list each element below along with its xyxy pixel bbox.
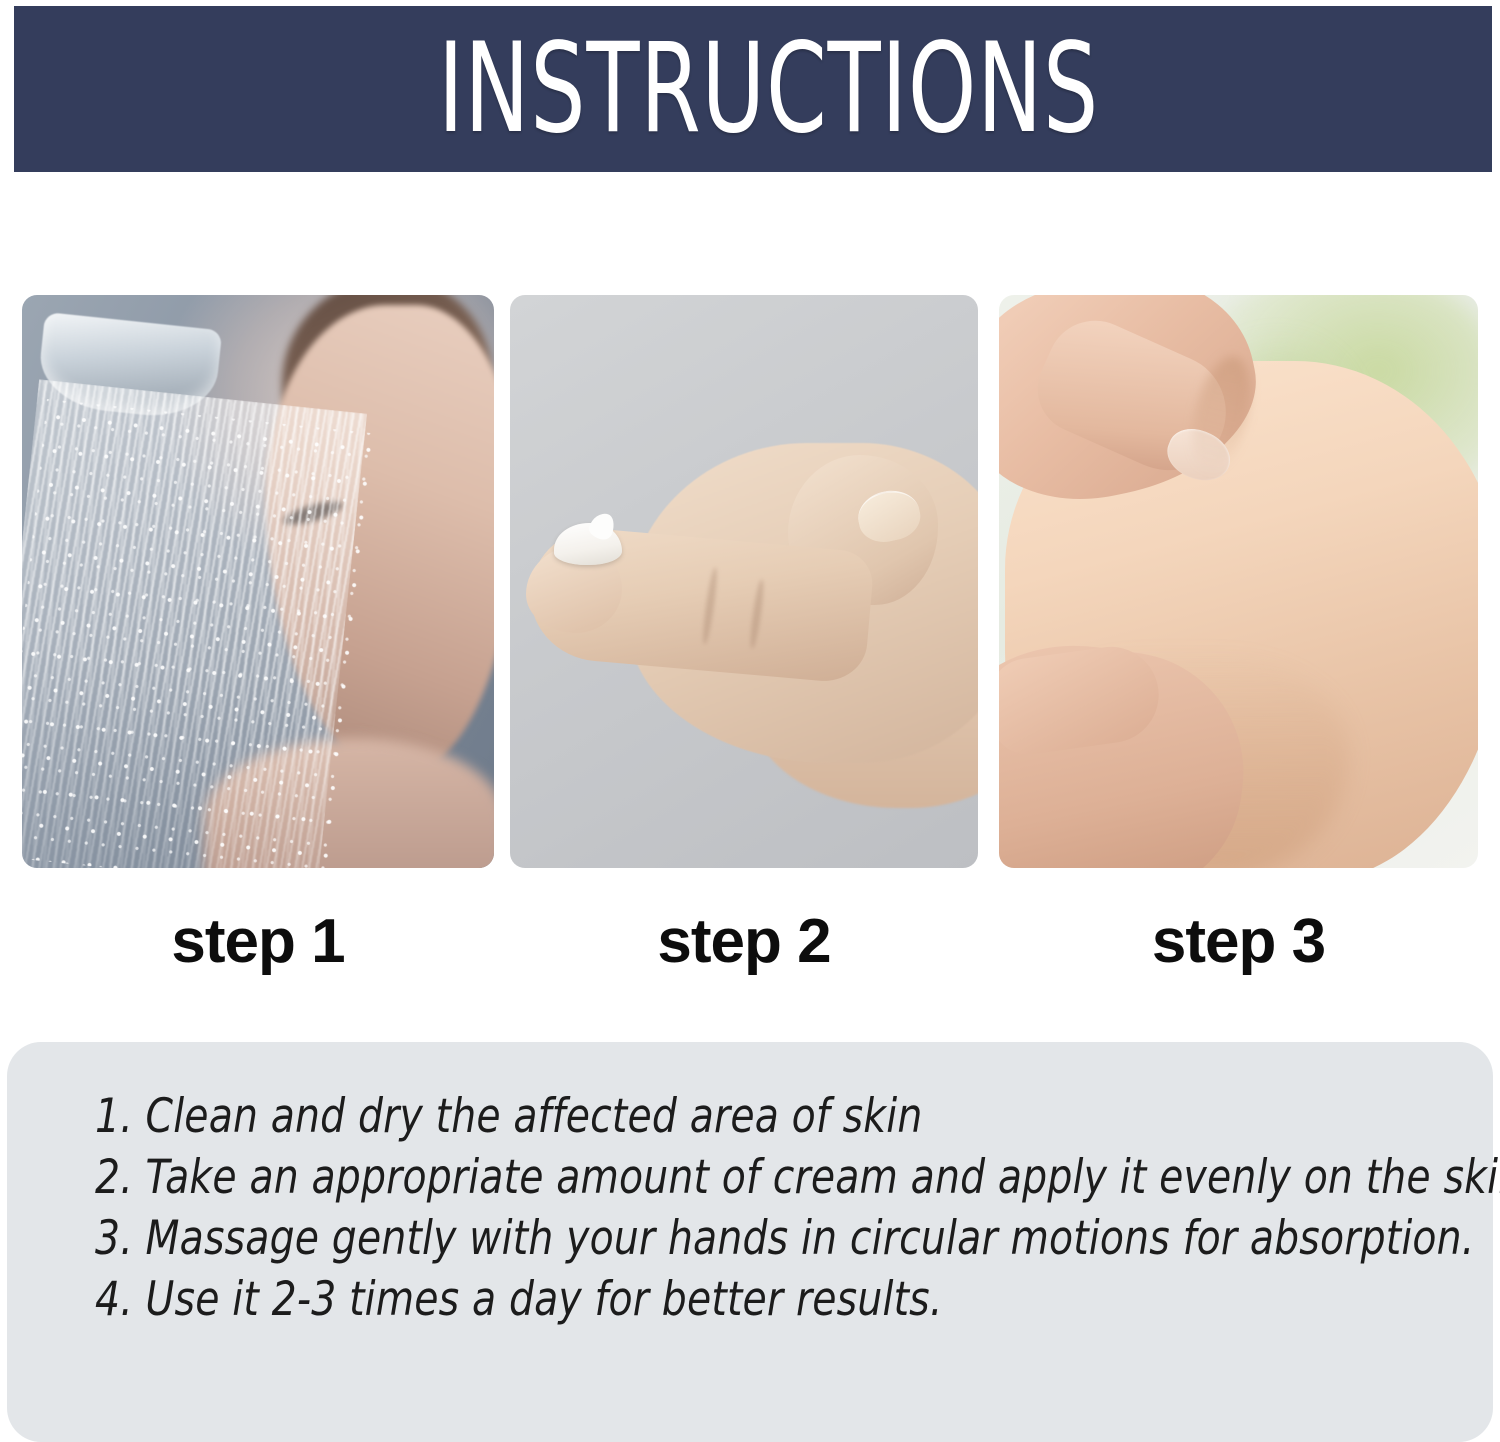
step-column-3: step 3 xyxy=(999,295,1471,995)
step-3-label: step 3 xyxy=(999,906,1478,977)
instructions-panel: 1. Clean and dry the affected area of sk… xyxy=(7,1042,1493,1442)
instruction-line-1: 1. Clean and dry the affected area of sk… xyxy=(95,1086,1358,1147)
step-1-photo-shower xyxy=(22,295,494,868)
step-2-label: step 2 xyxy=(510,906,978,977)
step-column-1: step 1 xyxy=(22,295,494,995)
instructions-header-banner: INSTRUCTIONS xyxy=(14,6,1492,172)
page-title: INSTRUCTIONS xyxy=(438,27,1099,151)
instruction-line-3: 3. Massage gently with your hands in cir… xyxy=(95,1208,1358,1269)
instruction-line-4: 4. Use it 2-3 times a day for better res… xyxy=(95,1269,1358,1330)
instruction-line-2: 2. Take an appropriate amount of cream a… xyxy=(95,1147,1358,1208)
water-droplets-shape xyxy=(22,399,375,868)
step-2-photo-cream-on-finger xyxy=(510,295,978,868)
steps-row: step 1 step 2 xyxy=(0,295,1500,995)
step-1-label: step 1 xyxy=(22,906,494,977)
step-column-2: step 2 xyxy=(510,295,982,995)
step-3-photo-massage-skin xyxy=(999,295,1478,868)
